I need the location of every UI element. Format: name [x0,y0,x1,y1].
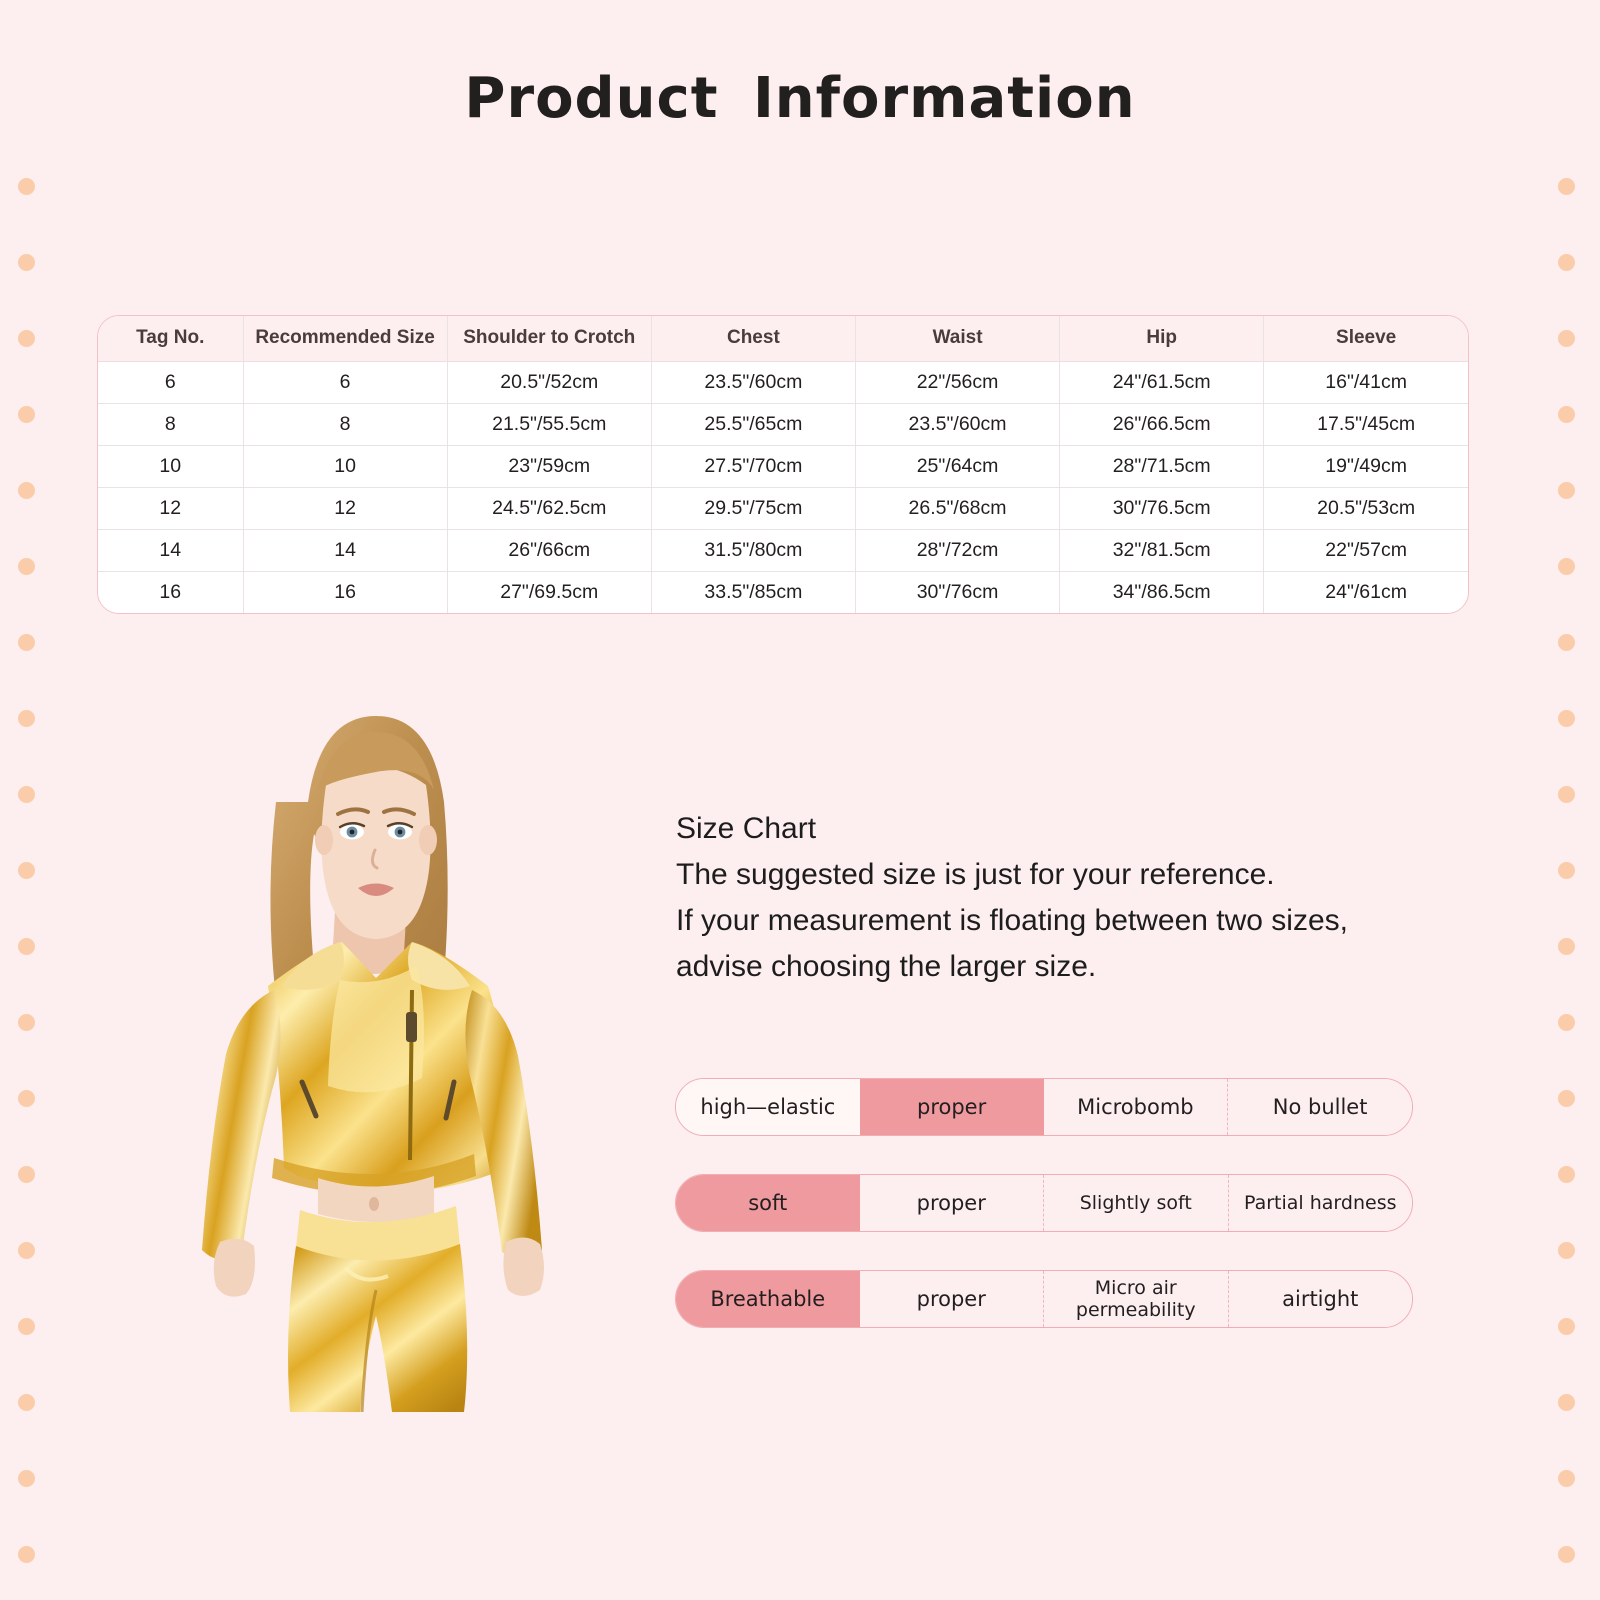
table-cell: 16"/41cm [1264,361,1468,403]
table-cell: 12 [243,487,447,529]
table-cell: 26.5"/68cm [855,487,1059,529]
page-title: Product Information [0,66,1600,131]
decorative-dot [1558,786,1575,803]
table-cell: 24"/61cm [1264,571,1468,613]
table-column-header: Tag No. [98,316,243,361]
decorative-dot [18,178,35,195]
table-row: 141426"/66cm31.5"/80cm28"/72cm32"/81.5cm… [98,529,1468,571]
table-cell: 25.5"/65cm [651,403,855,445]
table-column-header: Recommended Size [243,316,447,361]
table-cell: 20.5"/52cm [447,361,651,403]
table-cell: 14 [98,529,243,571]
table-cell: 24.5"/62.5cm [447,487,651,529]
decorative-dot [18,1090,35,1107]
decorative-dot [1558,558,1575,575]
decorative-dot [1558,710,1575,727]
property-segment[interactable]: Slightly soft [1043,1175,1228,1231]
decorative-dot [18,786,35,803]
decorative-dot [1558,482,1575,499]
decorative-dot [18,862,35,879]
table-cell: 22"/56cm [855,361,1059,403]
decorative-dot [1558,1318,1575,1335]
table-cell: 30"/76cm [855,571,1059,613]
decorative-dot [18,1242,35,1259]
property-segment[interactable]: soft [676,1175,860,1231]
size-chart-line-1: The suggested size is just for your refe… [676,852,1436,898]
table-cell: 6 [243,361,447,403]
decorative-dot [18,1014,35,1031]
decorative-dot [18,1318,35,1335]
property-segment[interactable]: No bullet [1227,1079,1412,1135]
table-cell: 17.5"/45cm [1264,403,1468,445]
decorative-dot [1558,862,1575,879]
table-cell: 26"/66.5cm [1060,403,1264,445]
table-cell: 34"/86.5cm [1060,571,1264,613]
table-cell: 12 [98,487,243,529]
table-cell: 25"/64cm [855,445,1059,487]
table-column-header: Chest [651,316,855,361]
table-row: 8821.5"/55.5cm25.5"/65cm23.5"/60cm26"/66… [98,403,1468,445]
size-chart-info: Size Chart The suggested size is just fo… [676,806,1436,990]
table-cell: 28"/71.5cm [1060,445,1264,487]
table-cell: 21.5"/55.5cm [447,403,651,445]
table-cell: 19"/49cm [1264,445,1468,487]
decorative-dot [1558,1394,1575,1411]
decorative-dot [18,482,35,499]
decorative-dot [1558,1166,1575,1183]
size-chart-line-2: If your measurement is floating between … [676,898,1436,944]
property-segment[interactable]: Breathable [676,1271,860,1327]
table-column-header: Waist [855,316,1059,361]
decorative-dot [18,1546,35,1563]
table-cell: 28"/72cm [855,529,1059,571]
table-cell: 30"/76.5cm [1060,487,1264,529]
decorative-dot [1558,406,1575,423]
size-chart-table: Tag No.Recommended SizeShoulder to Crotc… [97,315,1469,614]
decorative-dot [1558,254,1575,271]
decorative-dot [1558,938,1575,955]
decorative-dot [18,1394,35,1411]
decorative-dot [18,710,35,727]
decorative-dot [18,254,35,271]
table-cell: 10 [243,445,447,487]
property-segment[interactable]: airtight [1228,1271,1413,1327]
table-cell: 24"/61.5cm [1060,361,1264,403]
table-cell: 27"/69.5cm [447,571,651,613]
decorative-dot [1558,178,1575,195]
decorative-dot [18,1166,35,1183]
table-cell: 23.5"/60cm [855,403,1059,445]
table-cell: 8 [98,403,243,445]
property-segment[interactable]: proper [860,1175,1044,1231]
table-cell: 29.5"/75cm [651,487,855,529]
property-segment[interactable]: Microbomb [1044,1079,1228,1135]
property-bar-elasticity[interactable]: high—elasticproperMicrobombNo bullet [675,1078,1413,1136]
table-cell: 27.5"/70cm [651,445,855,487]
table-cell: 8 [243,403,447,445]
table-row: 101023"/59cm27.5"/70cm25"/64cm28"/71.5cm… [98,445,1468,487]
decorative-dot [1558,1470,1575,1487]
table-header-row: Tag No.Recommended SizeShoulder to Crotc… [98,316,1468,361]
size-chart-heading: Size Chart [676,806,1436,852]
size-chart-line-3: advise choosing the larger size. [676,944,1436,990]
table-cell: 26"/66cm [447,529,651,571]
decorative-dot [18,938,35,955]
decorative-dot [18,1470,35,1487]
table-cell: 6 [98,361,243,403]
table-row: 6620.5"/52cm23.5"/60cm22"/56cm24"/61.5cm… [98,361,1468,403]
table-cell: 23.5"/60cm [651,361,855,403]
table-cell: 32"/81.5cm [1060,529,1264,571]
property-bars: high—elasticproperMicrobombNo bulletsoft… [675,1078,1413,1366]
decorative-dots-left [8,0,48,1600]
property-bar-softness[interactable]: softproperSlightly softPartial hardness [675,1174,1413,1232]
decorative-dot [1558,1090,1575,1107]
table-cell: 22"/57cm [1264,529,1468,571]
table-cell: 31.5"/80cm [651,529,855,571]
table-body: 6620.5"/52cm23.5"/60cm22"/56cm24"/61.5cm… [98,361,1468,613]
table-cell: 16 [243,571,447,613]
table-column-header: Sleeve [1264,316,1468,361]
table-cell: 14 [243,529,447,571]
decorative-dot [1558,1242,1575,1259]
table-cell: 33.5"/85cm [651,571,855,613]
table-row: 161627"/69.5cm33.5"/85cm30"/76cm34"/86.5… [98,571,1468,613]
decorative-dot [1558,330,1575,347]
table-cell: 20.5"/53cm [1264,487,1468,529]
property-segment[interactable]: proper [860,1271,1044,1327]
table-cell: 16 [98,571,243,613]
table-column-header: Hip [1060,316,1264,361]
table-column-header: Shoulder to Crotch [447,316,651,361]
decorative-dots-right [1548,0,1588,1600]
table-cell: 23"/59cm [447,445,651,487]
decorative-dot [18,558,35,575]
product-information-page: Product Information Tag No.Recommended S… [0,0,1600,1600]
decorative-dot [18,406,35,423]
decorative-dot [1558,1546,1575,1563]
property-segment[interactable]: Micro air permeability [1043,1271,1228,1327]
table-cell: 10 [98,445,243,487]
decorative-dot [18,634,35,651]
table-row: 121224.5"/62.5cm29.5"/75cm26.5"/68cm30"/… [98,487,1468,529]
property-segment[interactable]: high—elastic [676,1079,860,1135]
property-segment[interactable]: Partial hardness [1228,1175,1413,1231]
decorative-dot [1558,1014,1575,1031]
decorative-dot [18,330,35,347]
property-bar-breathability[interactable]: BreathableproperMicro air permeabilityai… [675,1270,1413,1328]
product-photo [150,690,602,1412]
property-segment[interactable]: proper [860,1079,1044,1135]
decorative-dot [1558,634,1575,651]
